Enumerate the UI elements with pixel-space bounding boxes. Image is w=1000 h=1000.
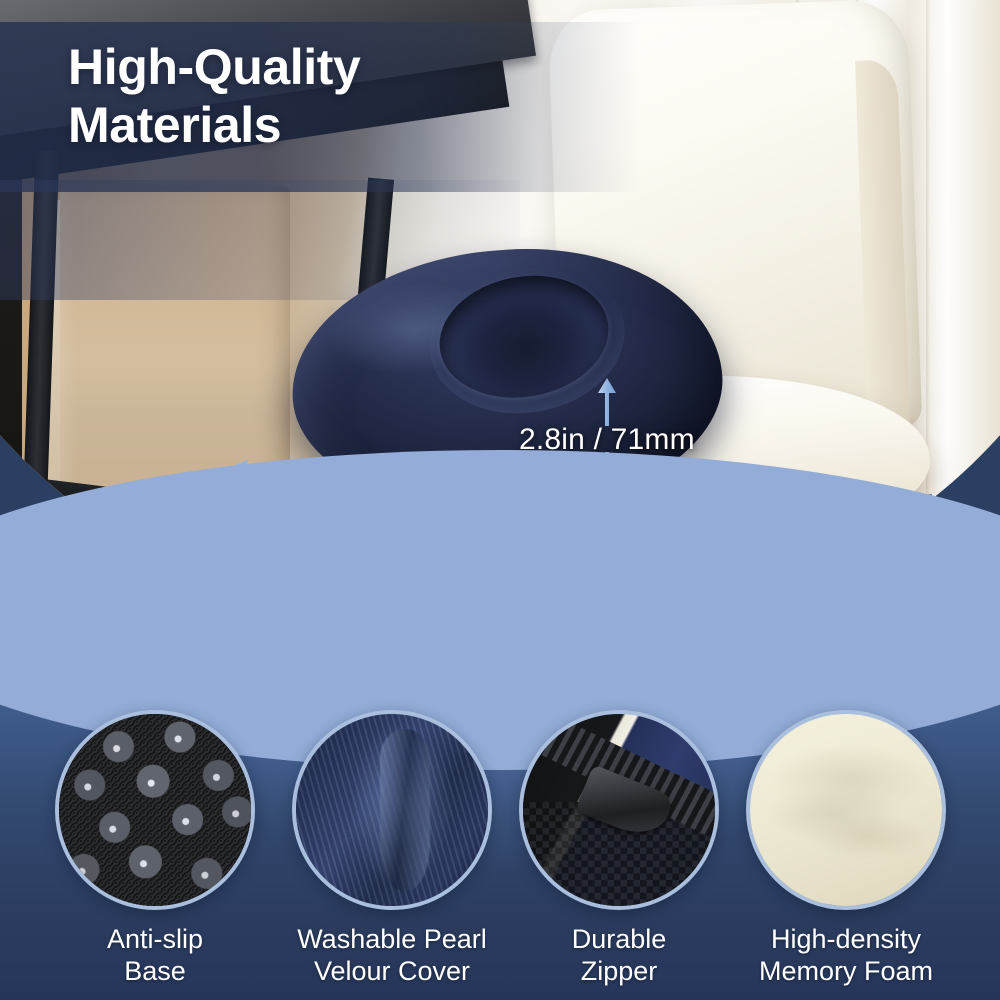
feature-velour[interactable]: Washable Pearl Velour Cover bbox=[281, 710, 503, 988]
memory-foam-swatch bbox=[746, 710, 946, 910]
feature-caption-anti-slip: Anti-slip Base bbox=[44, 924, 266, 988]
feature-caption-line2: Base bbox=[44, 956, 266, 988]
feature-caption-line1: Durable bbox=[508, 924, 730, 956]
feature-caption-line1: High-density bbox=[735, 924, 957, 956]
feature-memory-foam[interactable]: High-density Memory Foam bbox=[735, 710, 957, 988]
infographic-root: High-Quality Materials 2.8in / 71mm bbox=[0, 0, 1000, 1000]
feature-anti-slip[interactable]: Anti-slip Base bbox=[44, 710, 266, 988]
feature-caption-line1: Anti-slip bbox=[44, 924, 266, 956]
feature-caption-line2: Velour Cover bbox=[281, 956, 503, 988]
title-overlay-band-lower bbox=[0, 180, 520, 300]
feature-caption-zipper: Durable Zipper bbox=[508, 924, 730, 988]
page-title-line2: Materials bbox=[68, 96, 628, 154]
page-title: High-Quality Materials bbox=[68, 38, 628, 154]
page-title-line1: High-Quality bbox=[68, 38, 628, 96]
feature-caption-line2: Zipper bbox=[508, 956, 730, 988]
feature-zipper[interactable]: Durable Zipper bbox=[508, 710, 730, 988]
feature-caption-line2: Memory Foam bbox=[735, 956, 957, 988]
velour-cover-swatch bbox=[292, 710, 492, 910]
feature-caption-memory-foam: High-density Memory Foam bbox=[735, 924, 957, 988]
feature-caption-line1: Washable Pearl bbox=[281, 924, 503, 956]
durable-zipper-swatch bbox=[519, 710, 719, 910]
feature-caption-velour: Washable Pearl Velour Cover bbox=[281, 924, 503, 988]
anti-slip-base-swatch bbox=[55, 710, 255, 910]
